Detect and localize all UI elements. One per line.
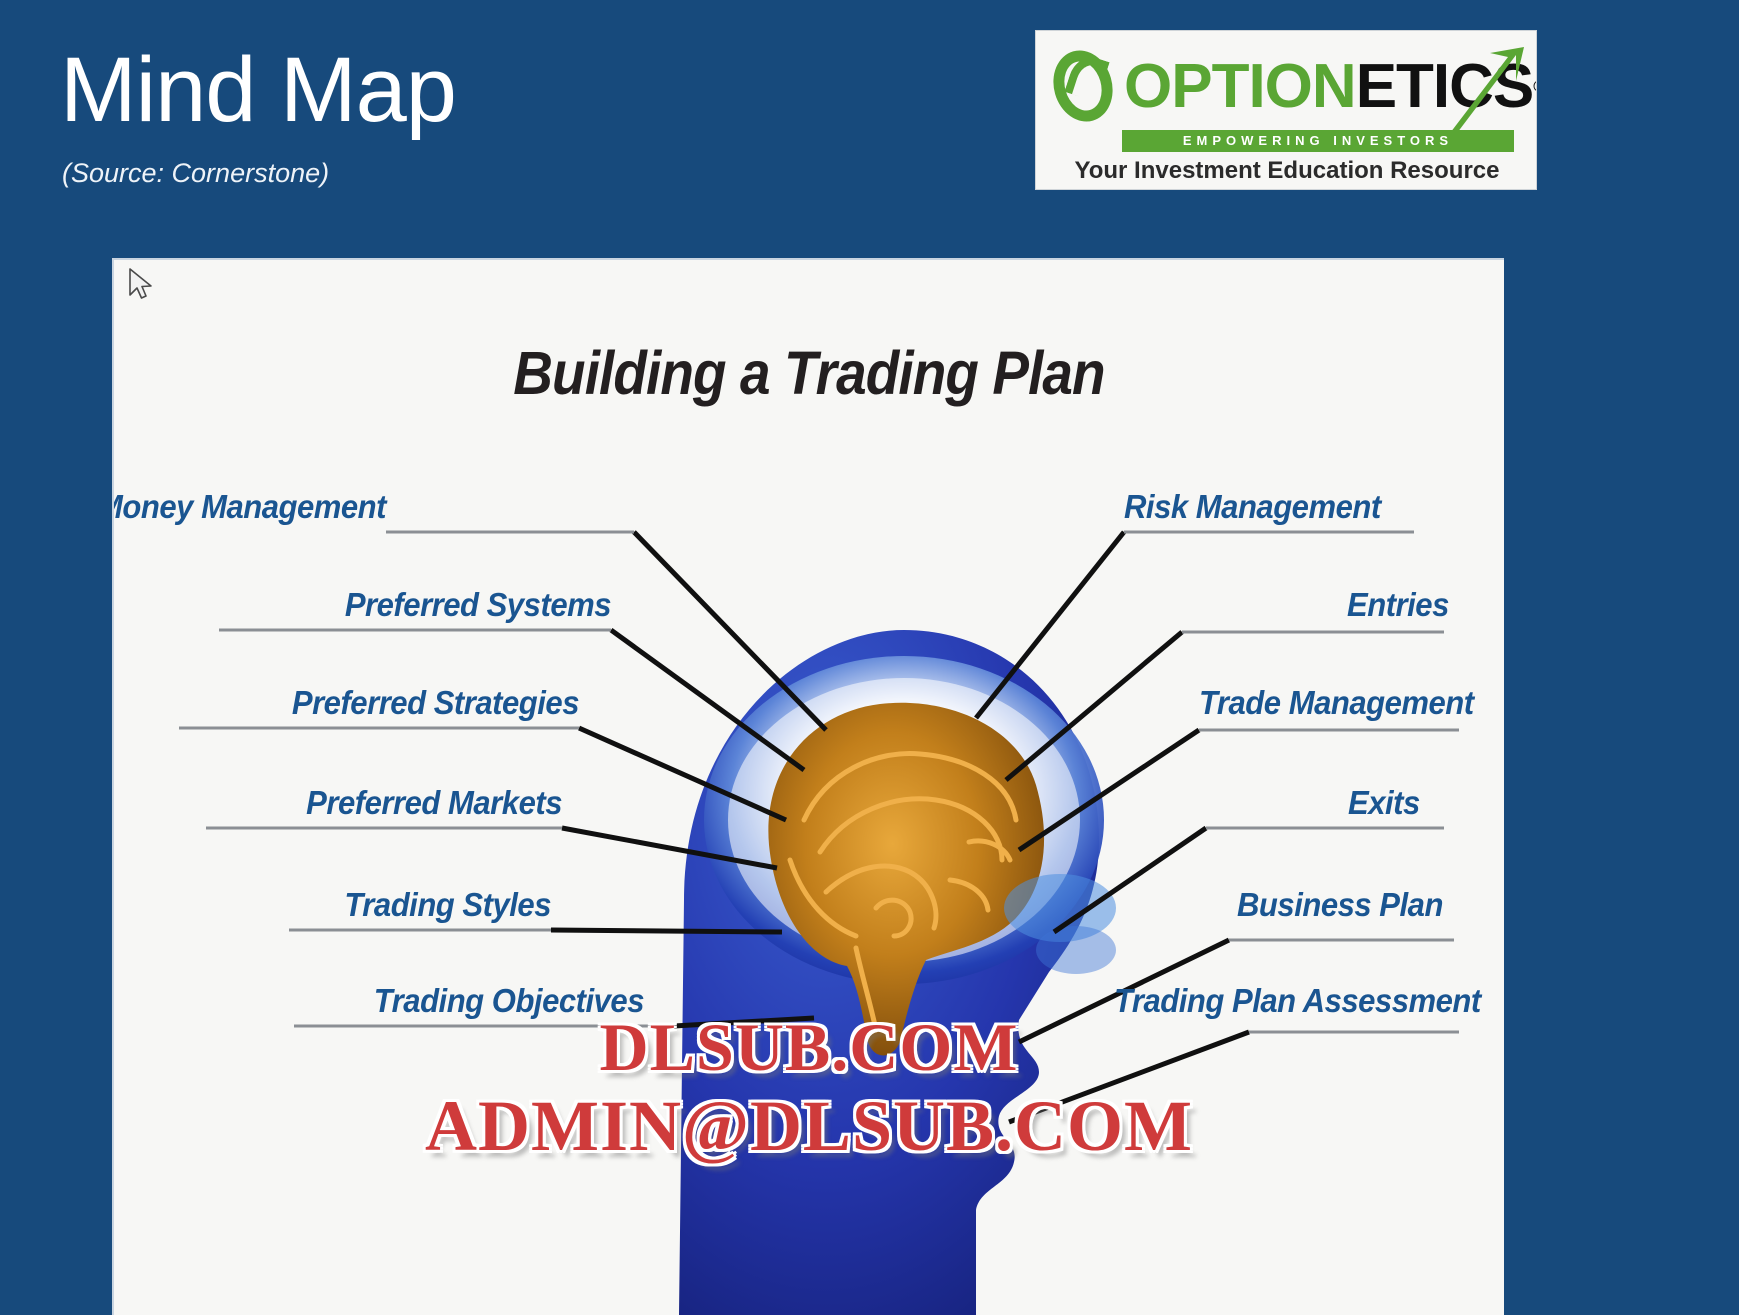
node-label-risk-management[interactable]: Risk Management — [1124, 488, 1381, 526]
node-label-trade-management[interactable]: Trade Management — [1199, 684, 1474, 722]
slide-header: Mind Map (Source: Cornerstone) OPTION ET… — [0, 0, 1739, 258]
head-with-brain-icon — [679, 630, 1116, 1315]
optionetics-o-icon — [1050, 48, 1122, 126]
node-label-exits[interactable]: Exits — [1348, 784, 1420, 822]
page-subtitle-source: (Source: Cornerstone) — [62, 158, 329, 189]
registered-trademark-icon: ® — [1533, 77, 1537, 97]
slide-content-panel: Building a Trading Plan — [112, 258, 1504, 1315]
node-label-money-management[interactable]: Money Management — [112, 488, 386, 526]
brand-logo: OPTION ETICS ® EMPOWERING INVESTORS Your… — [1035, 30, 1537, 190]
node-label-preferred-markets[interactable]: Preferred Markets — [306, 784, 562, 822]
logo-name-green: OPTION — [1124, 56, 1356, 118]
node-label-preferred-strategies[interactable]: Preferred Strategies — [292, 684, 579, 722]
node-label-preferred-systems[interactable]: Preferred Systems — [345, 586, 611, 624]
logo-bar-text: EMPOWERING INVESTORS — [1122, 130, 1514, 152]
logo-tagline: Your Investment Education Resource — [1036, 157, 1537, 185]
node-label-business-plan[interactable]: Business Plan — [1237, 886, 1443, 924]
watermark-site: DLSUB.COM — [114, 1008, 1504, 1087]
logo-green-bar: EMPOWERING INVESTORS — [1122, 130, 1514, 152]
watermark-email: ADMIN@DLSUB.COM — [114, 1085, 1504, 1168]
page-title: Mind Map — [60, 42, 456, 138]
node-label-entries[interactable]: Entries — [1347, 586, 1449, 624]
node-label-trading-styles[interactable]: Trading Styles — [344, 886, 551, 924]
